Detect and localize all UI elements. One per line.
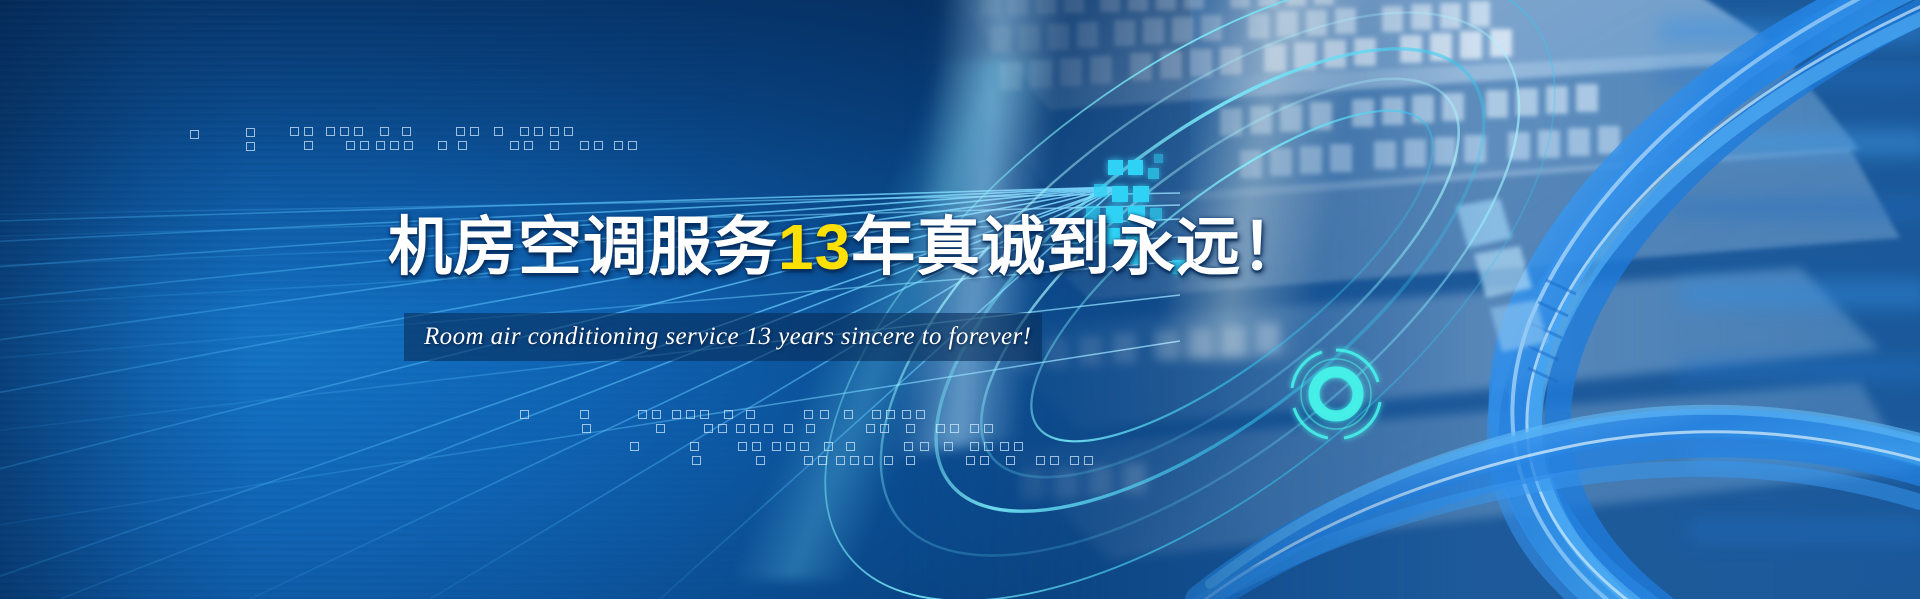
- page-title: 机房空调服务13年真诚到永远！: [388, 196, 1306, 288]
- datacenter-photo: [900, 0, 1920, 599]
- subtitle: Room air conditioning service 13 years s…: [424, 317, 1024, 357]
- headline-accent-years: 13: [778, 211, 851, 283]
- promo-banner: 机房空调服务13年真诚到永远！ Room air conditioning se…: [0, 0, 1920, 599]
- headline-part-1: 机房空调服务: [388, 211, 778, 283]
- headline-part-2: 年真诚到永远！: [851, 211, 1306, 283]
- tech-ring-icon: [1282, 340, 1390, 448]
